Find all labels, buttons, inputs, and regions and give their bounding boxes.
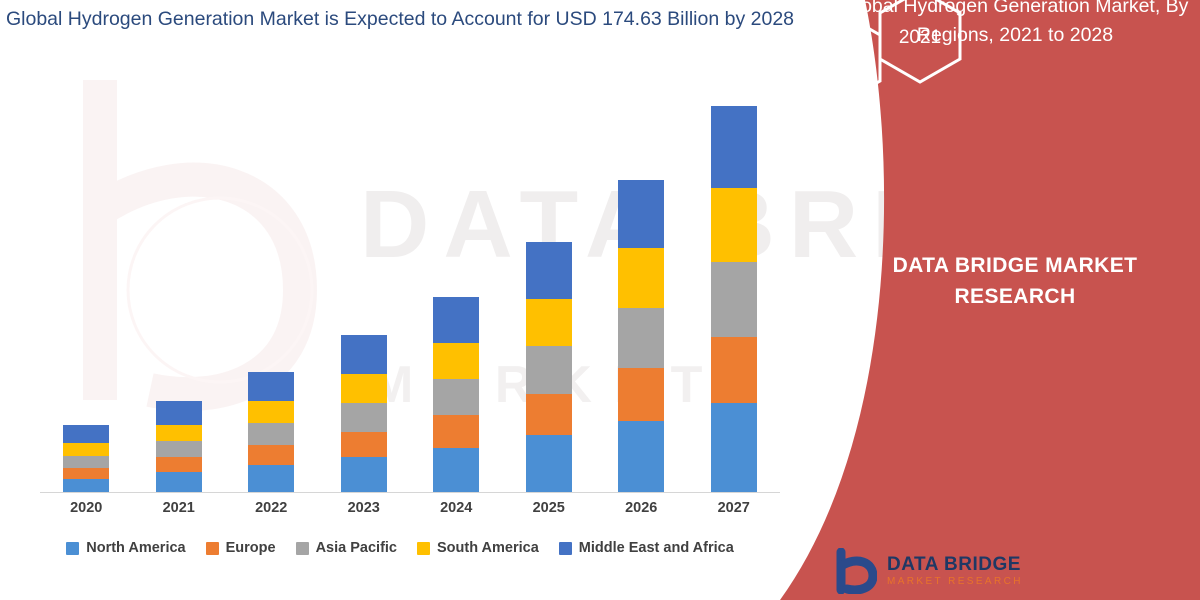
bar-segment — [433, 448, 479, 492]
x-axis-label: 2024 — [411, 500, 501, 516]
bar-segment — [156, 401, 202, 425]
legend-item[interactable]: North America — [66, 540, 185, 556]
chart-title: Global Hydrogen Generation Market is Exp… — [0, 6, 800, 33]
bar-group — [248, 372, 294, 492]
footer-logo-main: DATA BRIDGE — [887, 554, 1023, 576]
bar-segment — [248, 372, 294, 401]
bar-segment — [618, 368, 664, 421]
bar-segment — [433, 415, 479, 448]
bar-segment — [711, 337, 757, 403]
x-axis-label: 2021 — [134, 500, 224, 516]
bar-segment — [711, 188, 757, 263]
bar-segment — [341, 457, 387, 492]
right-red-panel: Global Hydrogen Generation Market, By Re… — [780, 0, 1200, 600]
bar-segment — [711, 403, 757, 492]
brand-line-2: RESEARCH — [840, 281, 1190, 312]
bar-segment — [341, 374, 387, 403]
bar-segment — [156, 457, 202, 472]
bar-segment — [248, 401, 294, 423]
bar-segment — [711, 106, 757, 188]
legend-label: South America — [437, 540, 539, 556]
bar-segment — [711, 262, 757, 337]
legend-label: Asia Pacific — [316, 540, 397, 556]
bar-segment — [63, 443, 109, 456]
x-axis-label: 2025 — [504, 500, 594, 516]
legend-swatch-icon — [206, 542, 219, 555]
bar-group — [341, 335, 387, 492]
bar-segment — [63, 468, 109, 479]
bar-segment — [526, 346, 572, 393]
chart-legend: North AmericaEuropeAsia PacificSouth Ame… — [0, 540, 800, 556]
bar-segment — [526, 242, 572, 299]
footer-logo: DATA BRIDGE MARKET RESEARCH — [835, 548, 1023, 594]
legend-item[interactable]: Asia Pacific — [296, 540, 397, 556]
bar-segment — [341, 335, 387, 373]
bar-segment — [618, 308, 664, 368]
bar-segment — [433, 343, 479, 379]
bar-segment — [618, 421, 664, 492]
bar-segment — [63, 479, 109, 492]
bar-group — [433, 297, 479, 492]
bar-segment — [526, 394, 572, 436]
x-axis-label: 2022 — [226, 500, 316, 516]
bar-segment — [248, 465, 294, 492]
legend-swatch-icon — [66, 542, 79, 555]
hex-label-2021: 2021 — [899, 27, 941, 48]
legend-swatch-icon — [296, 542, 309, 555]
bar-group — [618, 180, 664, 492]
x-axis-label: 2023 — [319, 500, 409, 516]
footer-bridge-icon — [835, 548, 877, 594]
bar-segment — [341, 403, 387, 432]
brand-line-1: DATA BRIDGE MARKET — [840, 250, 1190, 281]
bar-segment — [526, 435, 572, 492]
x-axis-label: 2027 — [689, 500, 779, 516]
x-axis-label: 2020 — [41, 500, 131, 516]
legend-swatch-icon — [559, 542, 572, 555]
legend-item[interactable]: Europe — [206, 540, 276, 556]
bar-segment — [433, 297, 479, 343]
x-axis-line — [40, 492, 780, 493]
legend-label: Middle East and Africa — [579, 540, 734, 556]
bar-segment — [526, 299, 572, 346]
legend-label: Europe — [226, 540, 276, 556]
legend-item[interactable]: Middle East and Africa — [559, 540, 734, 556]
bar-segment — [156, 425, 202, 441]
brand-block: DATA BRIDGE MARKET RESEARCH — [840, 250, 1190, 312]
plot-area — [40, 100, 780, 492]
x-axis-label: 2026 — [596, 500, 686, 516]
bar-group — [711, 106, 757, 492]
chart-panel: Global Hydrogen Generation Market is Exp… — [0, 0, 840, 600]
bar-segment — [341, 432, 387, 458]
bar-segment — [618, 180, 664, 247]
bar-segment — [156, 472, 202, 492]
bar-group — [526, 242, 572, 492]
bar-segment — [618, 248, 664, 308]
bar-segment — [156, 441, 202, 457]
legend-swatch-icon — [417, 542, 430, 555]
footer-logo-sub: MARKET RESEARCH — [887, 576, 1023, 588]
bar-segment — [63, 456, 109, 469]
legend-item[interactable]: South America — [417, 540, 539, 556]
bar-segment — [63, 425, 109, 443]
bar-segment — [248, 423, 294, 445]
bar-group — [63, 425, 109, 492]
bar-group — [156, 401, 202, 492]
bar-segment — [248, 445, 294, 465]
legend-label: North America — [86, 540, 185, 556]
bar-segment — [433, 379, 479, 415]
